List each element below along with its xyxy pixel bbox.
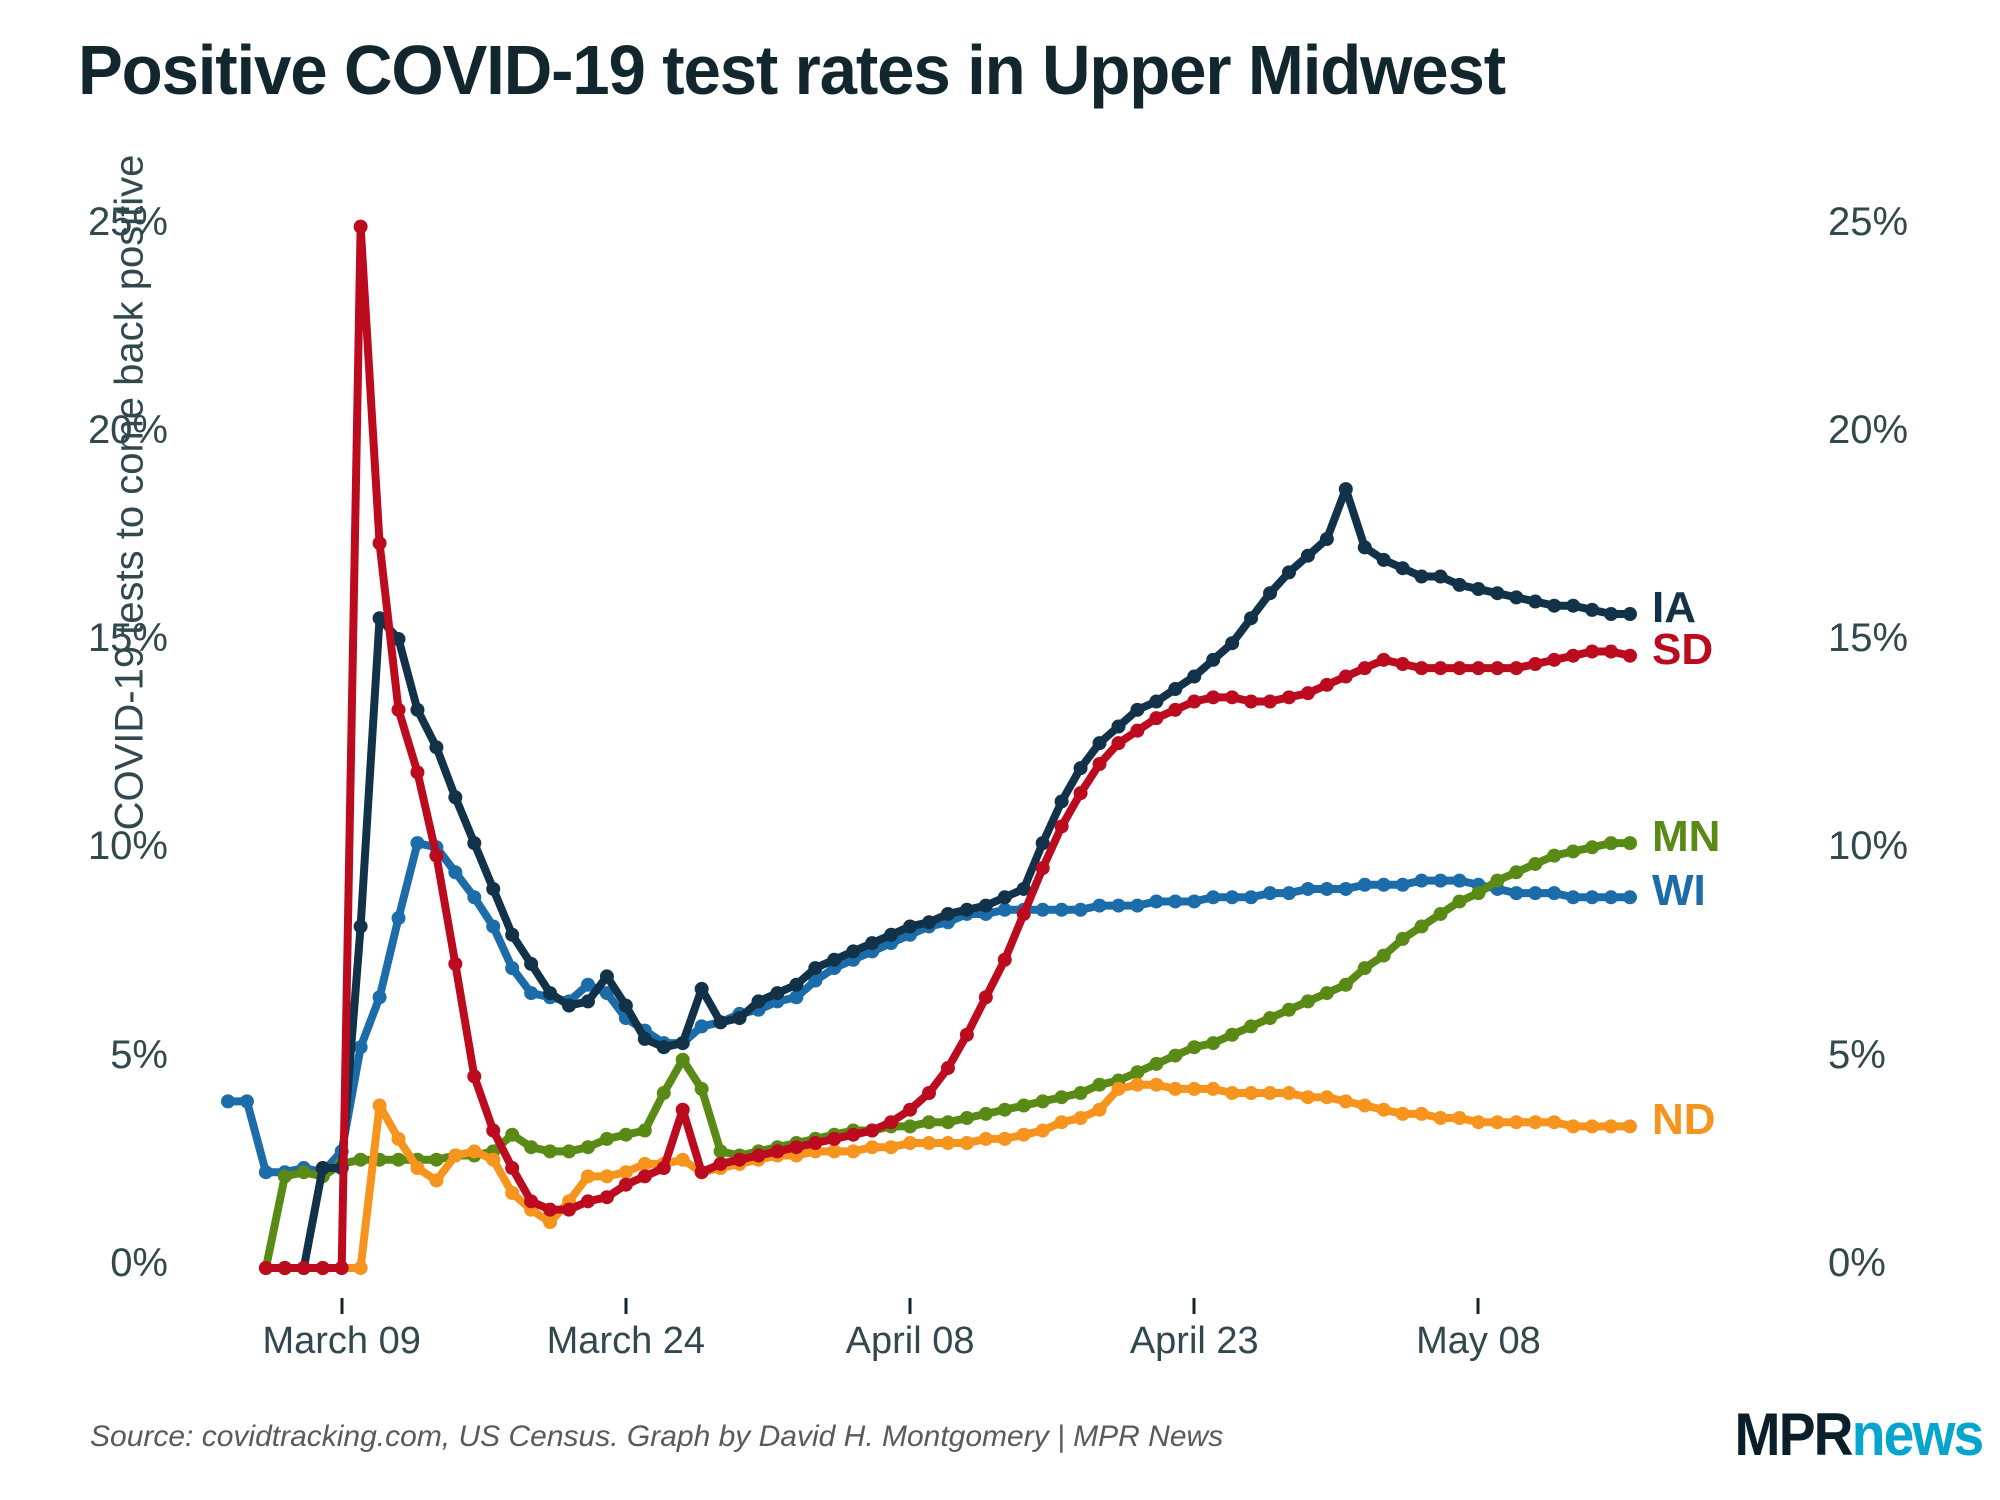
series-point bbox=[448, 790, 462, 804]
series-point bbox=[1036, 1094, 1050, 1108]
series-point bbox=[1130, 724, 1144, 738]
series-point bbox=[1377, 1103, 1391, 1117]
series-point bbox=[1282, 1086, 1296, 1100]
series-point bbox=[429, 740, 443, 754]
series-point bbox=[429, 1153, 443, 1167]
series-point bbox=[1168, 703, 1182, 717]
source-caption: Source: covidtracking.com, US Census. Gr… bbox=[90, 1420, 1223, 1454]
series-point bbox=[1187, 1040, 1201, 1054]
series-point bbox=[1301, 549, 1315, 563]
series-point bbox=[448, 957, 462, 971]
series-point bbox=[1187, 894, 1201, 908]
series-point bbox=[1434, 907, 1448, 921]
series-point bbox=[373, 990, 387, 1004]
series-point bbox=[524, 957, 538, 971]
series-point bbox=[903, 1136, 917, 1150]
series-point bbox=[676, 1053, 690, 1067]
series-point bbox=[827, 1132, 841, 1146]
series-point bbox=[1547, 1115, 1561, 1129]
series-point bbox=[1130, 1078, 1144, 1092]
series-point bbox=[865, 936, 879, 950]
series-point bbox=[733, 1011, 747, 1025]
series-point bbox=[392, 1153, 406, 1167]
series-point bbox=[903, 919, 917, 933]
series-point bbox=[467, 890, 481, 904]
series-point bbox=[884, 1140, 898, 1154]
series-point bbox=[562, 1144, 576, 1158]
series-point bbox=[1358, 1099, 1372, 1113]
series-point bbox=[1074, 761, 1088, 775]
series-point bbox=[505, 1186, 519, 1200]
series-point bbox=[1320, 1090, 1334, 1104]
series-point bbox=[467, 1069, 481, 1083]
series-point bbox=[543, 1203, 557, 1217]
series-point bbox=[1490, 586, 1504, 600]
series-point bbox=[1036, 861, 1050, 875]
series-point bbox=[1585, 603, 1599, 617]
series-point bbox=[941, 1061, 955, 1075]
series-point bbox=[1623, 1119, 1637, 1133]
series-point bbox=[998, 1132, 1012, 1146]
series-point bbox=[354, 1153, 368, 1167]
series-point bbox=[979, 899, 993, 913]
series-point bbox=[751, 1149, 765, 1163]
series-point bbox=[1585, 890, 1599, 904]
series-point bbox=[297, 1261, 311, 1275]
series-point bbox=[1320, 882, 1334, 896]
series-point bbox=[884, 928, 898, 942]
series-point bbox=[1585, 645, 1599, 659]
series-point bbox=[1377, 553, 1391, 567]
series-point bbox=[695, 1165, 709, 1179]
series-point bbox=[278, 1169, 292, 1183]
series-point bbox=[1604, 607, 1618, 621]
series-point bbox=[1282, 886, 1296, 900]
series-point bbox=[1377, 878, 1391, 892]
series-point bbox=[1471, 661, 1485, 675]
series-point bbox=[505, 1128, 519, 1142]
series-point bbox=[1017, 907, 1031, 921]
series-point bbox=[1339, 882, 1353, 896]
series-point bbox=[922, 1115, 936, 1129]
series-point bbox=[1547, 599, 1561, 613]
series-point bbox=[1320, 678, 1334, 692]
series-point bbox=[486, 1153, 500, 1167]
series-label-nd: ND bbox=[1652, 1095, 1716, 1145]
series-point bbox=[278, 1261, 292, 1275]
series-point bbox=[1452, 661, 1466, 675]
series-point bbox=[259, 1261, 273, 1275]
series-point bbox=[1149, 711, 1163, 725]
series-point bbox=[657, 1040, 671, 1054]
series-point bbox=[808, 1136, 822, 1150]
series-point bbox=[1396, 932, 1410, 946]
series-point bbox=[467, 836, 481, 850]
series-point bbox=[1339, 978, 1353, 992]
series-point bbox=[998, 953, 1012, 967]
series-point bbox=[695, 982, 709, 996]
series-point bbox=[619, 1128, 633, 1142]
series-point bbox=[1225, 1028, 1239, 1042]
series-point bbox=[638, 1169, 652, 1183]
series-point bbox=[1547, 849, 1561, 863]
logo-news-text: news bbox=[1851, 1401, 1982, 1468]
series-point bbox=[1339, 670, 1353, 684]
series-point bbox=[846, 944, 860, 958]
series-point bbox=[808, 961, 822, 975]
series-point bbox=[1434, 661, 1448, 675]
series-point bbox=[1111, 720, 1125, 734]
series-point bbox=[1225, 636, 1239, 650]
series-point bbox=[1509, 886, 1523, 900]
series-point bbox=[1244, 1019, 1258, 1033]
series-point bbox=[1490, 661, 1504, 675]
series-point bbox=[1244, 890, 1258, 904]
series-point bbox=[1168, 1082, 1182, 1096]
series-point bbox=[1036, 1124, 1050, 1138]
series-point bbox=[316, 1261, 330, 1275]
series-point bbox=[1168, 894, 1182, 908]
series-point bbox=[1604, 645, 1618, 659]
series-point bbox=[1130, 1065, 1144, 1079]
series-point bbox=[846, 1128, 860, 1142]
series-point bbox=[1149, 894, 1163, 908]
series-point bbox=[410, 703, 424, 717]
series-point bbox=[960, 903, 974, 917]
series-point bbox=[505, 928, 519, 942]
series-point bbox=[1415, 661, 1429, 675]
series-point bbox=[1358, 540, 1372, 554]
series-point bbox=[1547, 653, 1561, 667]
series-point bbox=[410, 836, 424, 850]
series-point bbox=[714, 1015, 728, 1029]
series-point bbox=[1093, 757, 1107, 771]
series-point bbox=[1225, 690, 1239, 704]
series-point bbox=[1415, 874, 1429, 888]
series-point bbox=[543, 1144, 557, 1158]
series-point bbox=[486, 919, 500, 933]
series-point bbox=[1055, 1090, 1069, 1104]
plot-area bbox=[0, 0, 2000, 1500]
series-point bbox=[1623, 607, 1637, 621]
series-point bbox=[1036, 903, 1050, 917]
series-point bbox=[1206, 890, 1220, 904]
series-point bbox=[941, 1136, 955, 1150]
series-point bbox=[638, 1124, 652, 1138]
series-point bbox=[1452, 1111, 1466, 1125]
series-point bbox=[1168, 1049, 1182, 1063]
series-point bbox=[581, 1194, 595, 1208]
series-point bbox=[1528, 657, 1542, 671]
series-point bbox=[1225, 1086, 1239, 1100]
series-point bbox=[1206, 1036, 1220, 1050]
series-point bbox=[505, 1161, 519, 1175]
series-point bbox=[467, 1144, 481, 1158]
series-point bbox=[884, 1115, 898, 1129]
series-point bbox=[581, 1140, 595, 1154]
series-point bbox=[998, 890, 1012, 904]
series-point bbox=[221, 1094, 235, 1108]
series-point bbox=[1604, 1119, 1618, 1133]
series-point bbox=[410, 1161, 424, 1175]
series-point bbox=[524, 1140, 538, 1154]
series-point bbox=[1111, 899, 1125, 913]
series-point bbox=[1452, 874, 1466, 888]
series-point bbox=[1282, 1003, 1296, 1017]
series-point bbox=[903, 1119, 917, 1133]
series-point bbox=[1055, 794, 1069, 808]
series-point bbox=[373, 536, 387, 550]
series-point bbox=[619, 1165, 633, 1179]
series-point bbox=[1528, 1115, 1542, 1129]
series-point bbox=[562, 999, 576, 1013]
series-point bbox=[1017, 1099, 1031, 1113]
series-point bbox=[1149, 1057, 1163, 1071]
series-point bbox=[543, 1215, 557, 1229]
series-point bbox=[1187, 670, 1201, 684]
series-point bbox=[1263, 1086, 1277, 1100]
series-point bbox=[354, 220, 368, 234]
series-label-sd: SD bbox=[1652, 625, 1713, 675]
series-point bbox=[1528, 886, 1542, 900]
series-point bbox=[1623, 836, 1637, 850]
series-point bbox=[1490, 1115, 1504, 1129]
series-point bbox=[1490, 874, 1504, 888]
series-point bbox=[1282, 690, 1296, 704]
series-point bbox=[1263, 1011, 1277, 1025]
series-point bbox=[1244, 695, 1258, 709]
series-point bbox=[1509, 590, 1523, 604]
series-point bbox=[1074, 903, 1088, 917]
series-point bbox=[1244, 1086, 1258, 1100]
series-point bbox=[316, 1161, 330, 1175]
series-point bbox=[846, 1144, 860, 1158]
series-point bbox=[751, 994, 765, 1008]
series-point bbox=[1396, 1107, 1410, 1121]
series-point bbox=[1509, 865, 1523, 879]
series-point bbox=[392, 1132, 406, 1146]
series-point bbox=[1377, 949, 1391, 963]
series-point bbox=[1452, 894, 1466, 908]
series-point bbox=[1301, 1090, 1315, 1104]
series-point bbox=[505, 961, 519, 975]
series-label-wi: WI bbox=[1652, 866, 1706, 916]
series-point bbox=[1339, 1094, 1353, 1108]
chart-container: Positive COVID-19 test rates in Upper Mi… bbox=[0, 0, 2000, 1500]
series-point bbox=[619, 1178, 633, 1192]
series-point bbox=[1130, 899, 1144, 913]
series-point bbox=[1055, 903, 1069, 917]
series-point bbox=[1566, 599, 1580, 613]
series-point bbox=[979, 1132, 993, 1146]
series-point bbox=[448, 865, 462, 879]
series-point bbox=[676, 1153, 690, 1167]
series-point bbox=[1074, 1086, 1088, 1100]
series-point bbox=[1509, 661, 1523, 675]
series-point bbox=[1301, 882, 1315, 896]
series-point bbox=[1566, 1119, 1580, 1133]
series-point bbox=[998, 1103, 1012, 1117]
series-point bbox=[562, 1203, 576, 1217]
series-point bbox=[1528, 857, 1542, 871]
series-point bbox=[922, 1086, 936, 1100]
series-point bbox=[865, 1140, 879, 1154]
series-point bbox=[297, 1165, 311, 1179]
series-point bbox=[429, 849, 443, 863]
series-point bbox=[1415, 919, 1429, 933]
series-point bbox=[1604, 836, 1618, 850]
series-point bbox=[676, 1036, 690, 1050]
series-point bbox=[600, 1132, 614, 1146]
series-point bbox=[1585, 1119, 1599, 1133]
series-point bbox=[1320, 532, 1334, 546]
series-point bbox=[1055, 1115, 1069, 1129]
series-point bbox=[657, 1086, 671, 1100]
series-point bbox=[960, 1136, 974, 1150]
series-point bbox=[1320, 986, 1334, 1000]
series-point bbox=[600, 969, 614, 983]
series-point bbox=[922, 1136, 936, 1150]
logo-mpr-text: MPR bbox=[1734, 1401, 1851, 1468]
series-point bbox=[657, 1161, 671, 1175]
series-point bbox=[1263, 695, 1277, 709]
series-point bbox=[1149, 695, 1163, 709]
series-point bbox=[1206, 690, 1220, 704]
series-point bbox=[865, 1124, 879, 1138]
series-point bbox=[619, 999, 633, 1013]
series-point bbox=[524, 986, 538, 1000]
series-point bbox=[695, 1082, 709, 1096]
series-point bbox=[1263, 586, 1277, 600]
series-point bbox=[1055, 819, 1069, 833]
series-point bbox=[543, 986, 557, 1000]
series-point bbox=[1093, 736, 1107, 750]
series-point bbox=[714, 1144, 728, 1158]
series-point bbox=[638, 1032, 652, 1046]
series-point bbox=[1282, 565, 1296, 579]
series-point bbox=[354, 1261, 368, 1275]
series-point bbox=[1358, 961, 1372, 975]
series-point bbox=[1377, 653, 1391, 667]
series-point bbox=[1415, 1107, 1429, 1121]
series-point bbox=[1547, 886, 1561, 900]
series-point bbox=[1623, 890, 1637, 904]
series-point bbox=[1074, 1111, 1088, 1125]
series-point bbox=[1471, 582, 1485, 596]
series-point bbox=[1187, 1082, 1201, 1096]
series-point bbox=[410, 765, 424, 779]
series-point bbox=[695, 1019, 709, 1033]
mpr-news-logo: MPRnews bbox=[1734, 1400, 1982, 1469]
series-point bbox=[1434, 570, 1448, 584]
series-point bbox=[392, 911, 406, 925]
series-point bbox=[1093, 1078, 1107, 1092]
series-point bbox=[827, 953, 841, 967]
series-point bbox=[1566, 890, 1580, 904]
series-point bbox=[733, 1153, 747, 1167]
series-point bbox=[998, 903, 1012, 917]
series-point bbox=[600, 1190, 614, 1204]
series-point bbox=[1566, 844, 1580, 858]
series-label-mn: MN bbox=[1652, 812, 1720, 862]
series-point bbox=[240, 1094, 254, 1108]
series-point bbox=[979, 1107, 993, 1121]
series-point bbox=[1187, 695, 1201, 709]
series-point bbox=[1358, 878, 1372, 892]
series-point bbox=[1604, 890, 1618, 904]
series-point bbox=[1396, 878, 1410, 892]
series-point bbox=[581, 1169, 595, 1183]
series-point bbox=[448, 1149, 462, 1163]
series-point bbox=[638, 1157, 652, 1171]
series-point bbox=[1623, 649, 1637, 663]
series-point bbox=[1244, 611, 1258, 625]
series-point bbox=[1225, 890, 1239, 904]
series-nd bbox=[259, 1078, 1637, 1275]
series-point bbox=[770, 1144, 784, 1158]
series-point bbox=[903, 1103, 917, 1117]
series-point bbox=[335, 1261, 349, 1275]
series-point bbox=[1415, 570, 1429, 584]
series-point bbox=[676, 1103, 690, 1117]
series-point bbox=[1396, 657, 1410, 671]
series-point bbox=[1149, 1078, 1163, 1092]
series-point bbox=[1074, 786, 1088, 800]
series-point bbox=[1434, 874, 1448, 888]
series-point bbox=[770, 986, 784, 1000]
series-point bbox=[486, 882, 500, 896]
series-point bbox=[1111, 1082, 1125, 1096]
series-point bbox=[392, 703, 406, 717]
series-point bbox=[1528, 595, 1542, 609]
series-point bbox=[1471, 1115, 1485, 1129]
series-point bbox=[259, 1165, 273, 1179]
series-point bbox=[789, 1140, 803, 1154]
series-point bbox=[354, 919, 368, 933]
series-point bbox=[581, 994, 595, 1008]
series-point bbox=[979, 990, 993, 1004]
series-point bbox=[1452, 578, 1466, 592]
series-point bbox=[1093, 1103, 1107, 1117]
series-point bbox=[941, 1115, 955, 1129]
series-point bbox=[429, 1174, 443, 1188]
series-point bbox=[1585, 840, 1599, 854]
series-point bbox=[1509, 1115, 1523, 1129]
series-point bbox=[960, 1111, 974, 1125]
series-point bbox=[1358, 661, 1372, 675]
series-point bbox=[1130, 703, 1144, 717]
series-mn bbox=[259, 836, 1637, 1275]
series-point bbox=[941, 907, 955, 921]
series-point bbox=[789, 990, 803, 1004]
series-point bbox=[1263, 886, 1277, 900]
series-point bbox=[1206, 1082, 1220, 1096]
series-point bbox=[1471, 886, 1485, 900]
series-point bbox=[922, 915, 936, 929]
series-point bbox=[1017, 1128, 1031, 1142]
series-point bbox=[1301, 994, 1315, 1008]
series-point bbox=[827, 1144, 841, 1158]
series-point bbox=[524, 1194, 538, 1208]
series-point bbox=[1566, 649, 1580, 663]
series-point bbox=[354, 1040, 368, 1054]
series-point bbox=[960, 1028, 974, 1042]
series-point bbox=[600, 1169, 614, 1183]
series-point bbox=[1206, 653, 1220, 667]
series-point bbox=[486, 1124, 500, 1138]
series-point bbox=[1434, 1111, 1448, 1125]
series-point bbox=[373, 1099, 387, 1113]
